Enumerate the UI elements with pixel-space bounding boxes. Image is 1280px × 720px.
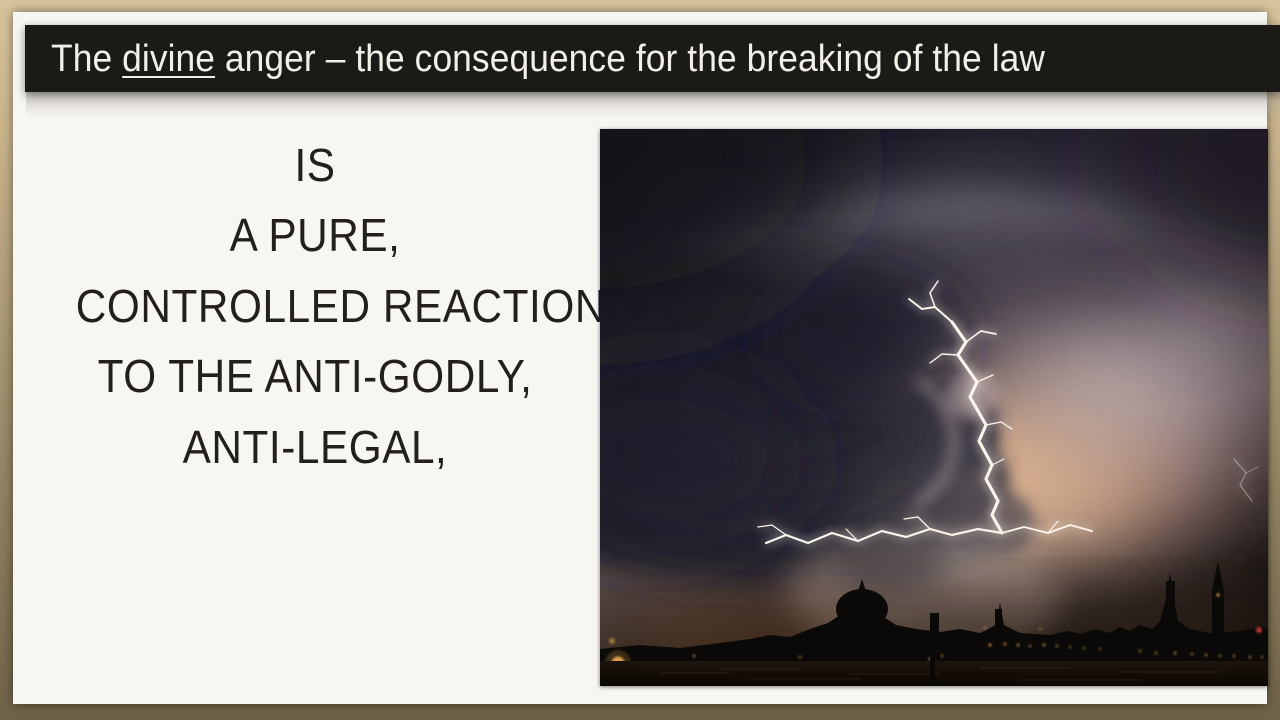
body-line: CONTROLLED REACTION [76,271,554,341]
body-line: TO THE ANTI-GODLY, [76,341,554,411]
slide-canvas: The divine anger – the consequence for t… [13,12,1267,704]
title-segment-before: The [51,38,122,80]
body-line: A PURE, [76,200,554,270]
title-emphasis-divine: divine [122,38,215,80]
slide-frame: The divine anger – the consequence for t… [0,0,1280,720]
slide-title-band: The divine anger – the consequence for t… [25,25,1280,92]
body-line: IS [76,130,554,200]
lightning-storm-photo [600,129,1268,686]
title-segment-after: anger – the consequence for the breaking… [215,38,1045,80]
slide-title: The divine anger – the consequence for t… [25,40,1045,78]
body-line: ANTI-LEGAL, [76,412,554,482]
slide-body-text: IS A PURE, CONTROLLED REACTION TO THE AN… [76,130,554,482]
title-band-shadow [26,92,1280,118]
